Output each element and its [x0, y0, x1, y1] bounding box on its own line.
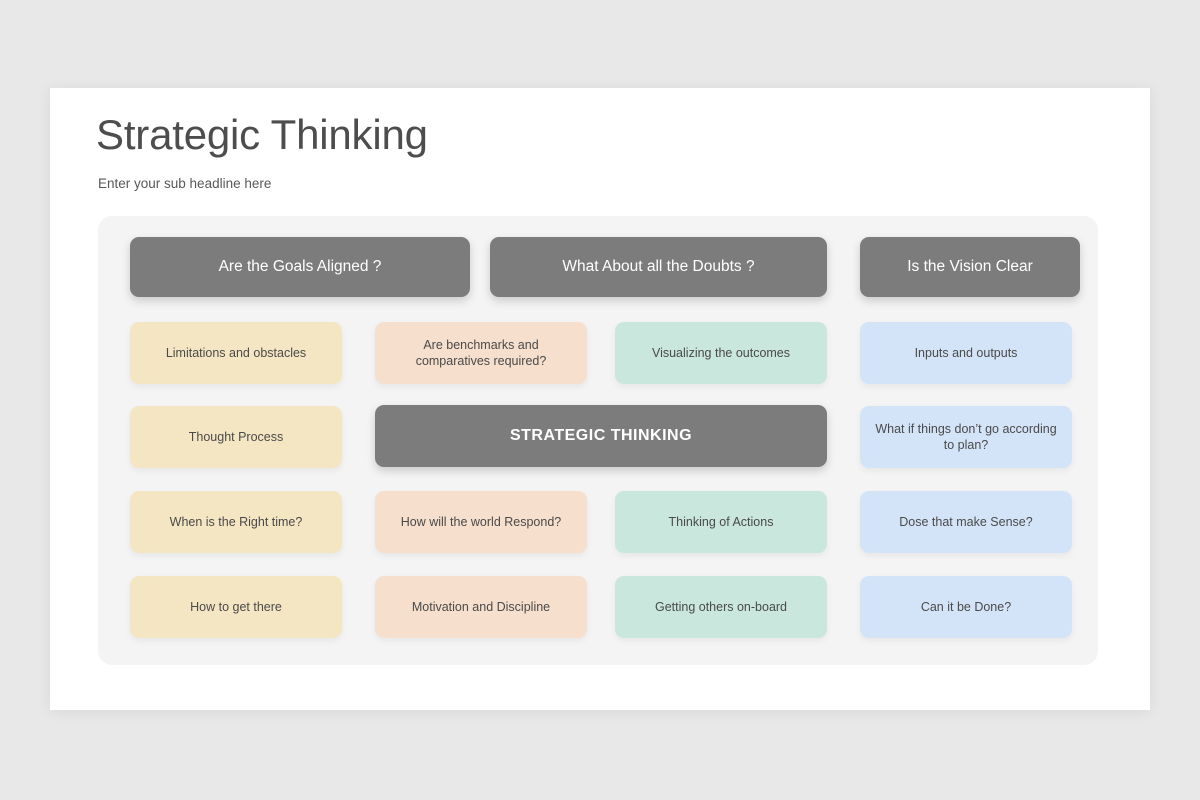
card-how-to-get-there[interactable]: How to get there [130, 576, 342, 638]
card-how-will-the-world-respond[interactable]: How will the world Respond? [375, 491, 587, 553]
card-inputs-and-outputs[interactable]: Inputs and outputs [860, 322, 1072, 384]
card-getting-others-on-board[interactable]: Getting others on-board [615, 576, 827, 638]
card-are-benchmarks-required[interactable]: Are benchmarks and comparatives required… [375, 322, 587, 384]
card-can-it-be-done[interactable]: Can it be Done? [860, 576, 1072, 638]
card-when-is-the-right-time[interactable]: When is the Right time? [130, 491, 342, 553]
center-card-strategic-thinking[interactable]: STRATEGIC THINKING [375, 405, 827, 467]
card-limitations-and-obstacles[interactable]: Limitations and obstacles [130, 322, 342, 384]
card-what-if-things-dont-go-according-to-plan[interactable]: What if things don’t go according to pla… [860, 406, 1072, 468]
card-visualizing-the-outcomes[interactable]: Visualizing the outcomes [615, 322, 827, 384]
card-thought-process[interactable]: Thought Process [130, 406, 342, 468]
page-title: Strategic Thinking [96, 111, 428, 159]
page-subtitle: Enter your sub headline here [98, 176, 271, 191]
slide-canvas: Strategic Thinking Enter your sub headli… [50, 88, 1150, 710]
card-dose-that-make-sense[interactable]: Dose that make Sense? [860, 491, 1072, 553]
card-motivation-and-discipline[interactable]: Motivation and Discipline [375, 576, 587, 638]
card-thinking-of-actions[interactable]: Thinking of Actions [615, 491, 827, 553]
header-card-vision[interactable]: Is the Vision Clear [860, 237, 1080, 297]
diagram-panel: Are the Goals Aligned ? What About all t… [98, 216, 1098, 665]
header-card-goals[interactable]: Are the Goals Aligned ? [130, 237, 470, 297]
header-card-doubts[interactable]: What About all the Doubts ? [490, 237, 827, 297]
